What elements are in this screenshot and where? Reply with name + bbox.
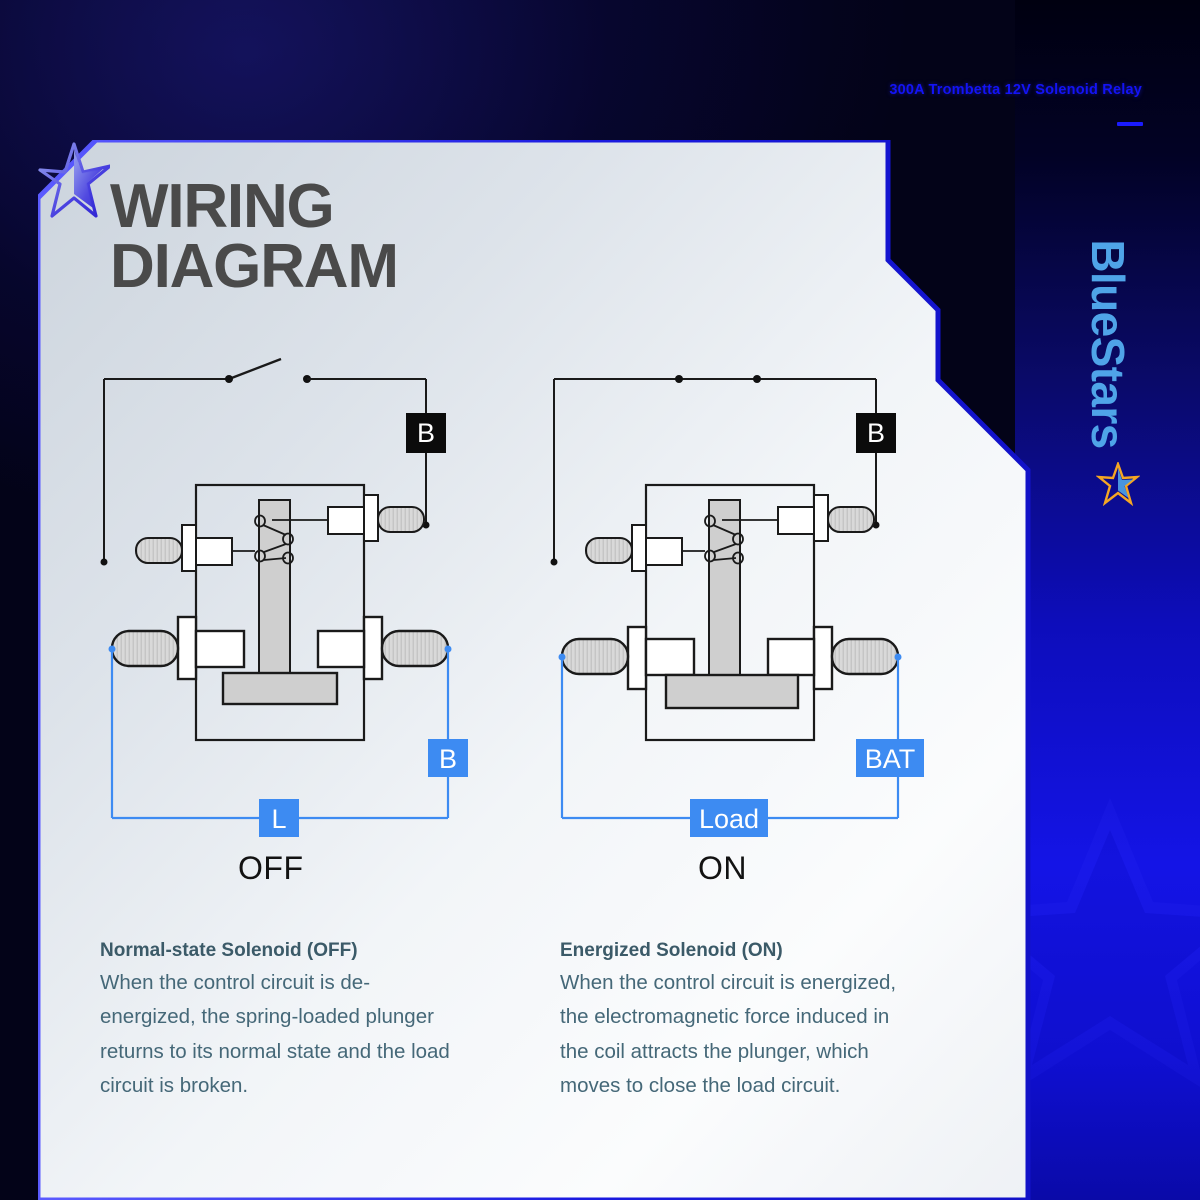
logo-star-icon	[1096, 462, 1140, 506]
page-title-line2: DIAGRAM	[110, 237, 398, 297]
on-battery-terminal-label: BAT	[865, 744, 916, 774]
caption-on-heading: Energized Solenoid (ON)	[560, 940, 915, 962]
title-star-icon	[38, 140, 110, 220]
caption-on: Energized Solenoid (ON) When the control…	[560, 940, 915, 1104]
brand-logo: BlueStars	[1078, 180, 1138, 510]
state-label-off: OFF	[238, 850, 303, 887]
star-watermark-icon	[1015, 790, 1200, 1110]
page-title: WIRING DIAGRAM	[110, 177, 398, 297]
on-control-terminal-label: B	[867, 418, 885, 448]
off-battery-terminal-label: B	[439, 744, 457, 774]
diagram-panel: WIRING DIAGRAM	[38, 140, 1038, 1200]
product-title: 300A Trombetta 12V Solenoid Relay	[889, 82, 1142, 98]
caption-off: Normal-state Solenoid (OFF) When the con…	[100, 940, 455, 1104]
off-contact-bar	[223, 673, 337, 704]
page-title-line1: WIRING	[110, 177, 398, 237]
on-load-terminal-label: Load	[699, 804, 759, 834]
off-load-terminal-label: L	[271, 804, 286, 834]
caption-off-body: When the control circuit is de-energized…	[100, 966, 455, 1104]
on-contact-bar	[666, 675, 798, 708]
header-underline	[1117, 122, 1143, 126]
diagram-off-svg: B	[96, 355, 526, 875]
diagram-on: B	[546, 355, 976, 875]
caption-off-heading: Normal-state Solenoid (OFF)	[100, 940, 455, 962]
caption-on-body: When the control circuit is energized, t…	[560, 966, 915, 1104]
diagram-off: B	[96, 355, 526, 875]
diagram-on-svg: B	[546, 355, 976, 875]
brand-logo-text: BlueStars	[1078, 178, 1138, 510]
state-label-on: ON	[698, 850, 747, 887]
off-control-terminal-label: B	[417, 418, 435, 448]
